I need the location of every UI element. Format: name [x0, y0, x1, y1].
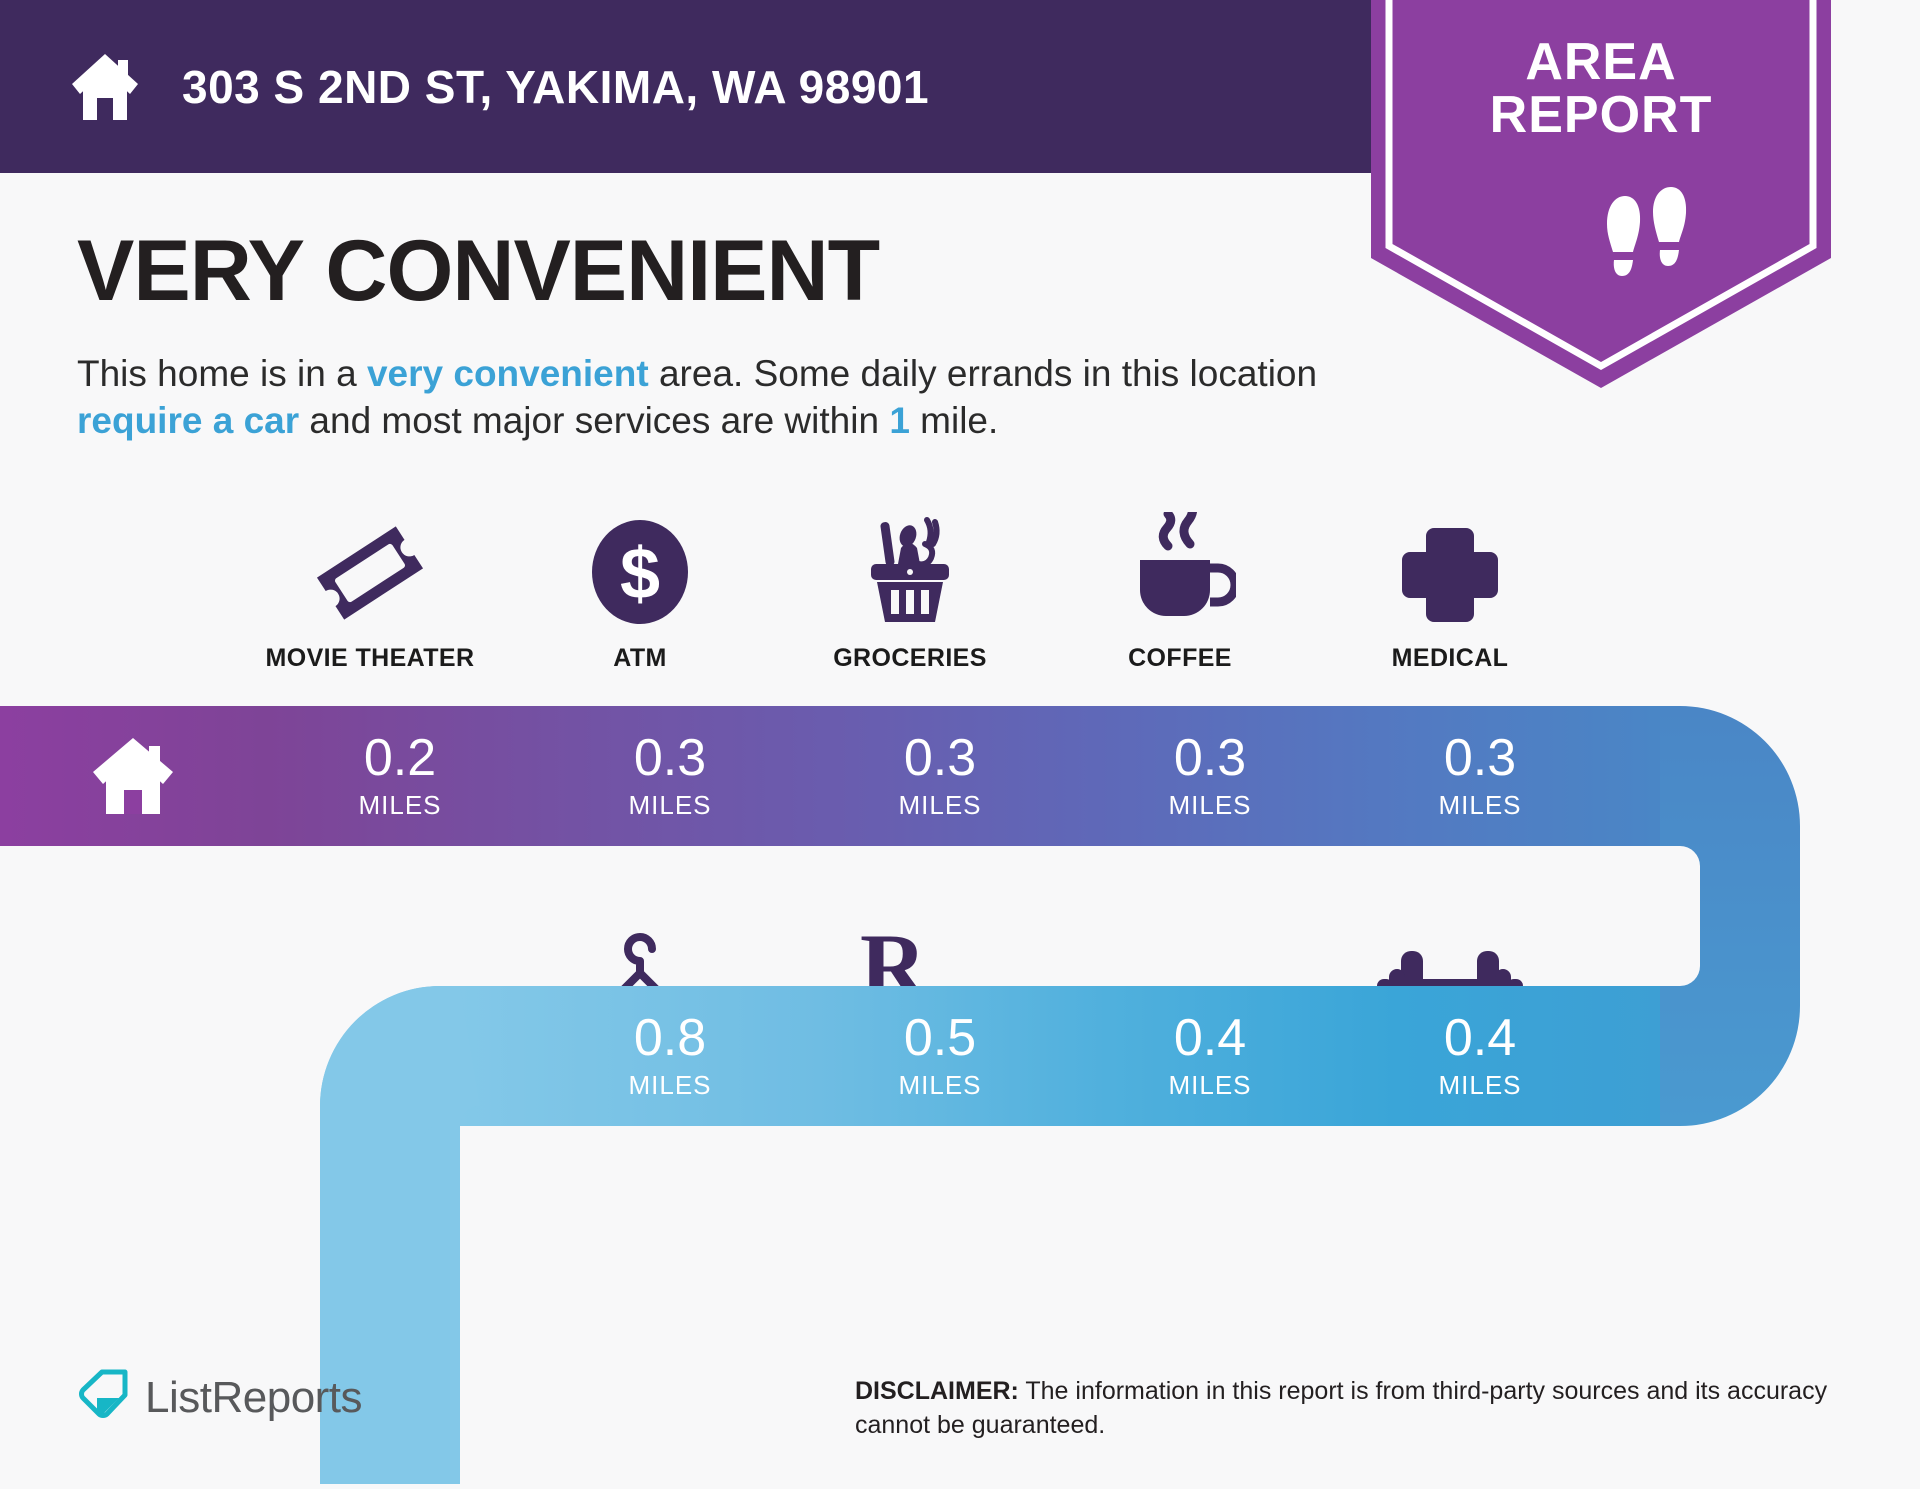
amenity-coffee: COFFEE: [1045, 510, 1315, 673]
distance-cell: 0.4MILES: [1075, 986, 1345, 1126]
distance-unit: MILES: [1438, 790, 1521, 821]
disclaimer-label: DISCLAIMER:: [855, 1377, 1019, 1405]
description-text: This home is in a: [77, 353, 367, 394]
description-highlight: require a car: [77, 400, 299, 441]
grocery-basket-icon: [855, 510, 965, 628]
distance-value: 0.4: [1174, 1012, 1246, 1064]
home-origin-cell: [0, 706, 265, 846]
distance-cell: 0.2MILES: [265, 706, 535, 846]
distance-value: 0.2: [364, 732, 436, 784]
coffee-cup-icon: [1124, 510, 1236, 628]
distance-cell: 0.3MILES: [535, 706, 805, 846]
distance-unit: MILES: [1168, 790, 1251, 821]
amenity-icon-row-1: MOVIE THEATER $ ATM: [235, 510, 1585, 673]
distance-value: 0.4: [1444, 1012, 1516, 1064]
distance-unit: MILES: [358, 790, 441, 821]
distance-value: 0.3: [634, 732, 706, 784]
summary-description: This home is in a very convenient area. …: [77, 350, 1357, 445]
amenity-movie-theater: MOVIE THEATER: [235, 510, 505, 673]
amenity-label: ATM: [613, 644, 667, 673]
area-report-badge: AREA REPORT: [1371, 0, 1831, 398]
description-highlight: very convenient: [367, 353, 649, 394]
badge-line-1: AREA: [1371, 36, 1831, 89]
distance-cell: 0.3MILES: [805, 706, 1075, 846]
logo-text: ListReports: [145, 1373, 362, 1423]
dollar-circle-icon: $: [585, 510, 695, 628]
distance-cell: 0.3MILES: [1345, 706, 1615, 846]
description-text: and most major services are within: [299, 400, 889, 441]
listreports-house-icon: [75, 1368, 129, 1427]
svg-text:$: $: [620, 534, 660, 614]
property-address: 303 S 2ND ST, YAKIMA, WA 98901: [182, 60, 929, 114]
distance-value: 0.3: [1174, 732, 1246, 784]
distance-unit: MILES: [1438, 1070, 1521, 1101]
distance-cell: 0.4MILES: [1345, 986, 1615, 1126]
description-text: area. Some daily errands in this locatio…: [649, 353, 1317, 394]
amenity-label: GROCERIES: [833, 644, 987, 673]
distance-cell: 0.5MILES: [805, 986, 1075, 1126]
description-highlight: 1: [889, 400, 910, 441]
ticket-icon: [315, 510, 425, 628]
badge-line-2: REPORT: [1371, 89, 1831, 142]
amenity-label: MEDICAL: [1392, 644, 1509, 673]
distance-value: 0.8: [634, 1012, 706, 1064]
distance-value: 0.3: [904, 732, 976, 784]
page-title: VERY CONVENIENT: [77, 222, 879, 321]
header-bar: 303 S 2ND ST, YAKIMA, WA 98901: [0, 0, 1371, 173]
amenity-groceries: GROCERIES: [775, 510, 1045, 673]
distance-value: 0.5: [904, 1012, 976, 1064]
distance-unit: MILES: [898, 1070, 981, 1101]
home-icon: [66, 48, 144, 126]
distance-unit: MILES: [1168, 1070, 1251, 1101]
disclaimer: DISCLAIMER: The information in this repo…: [855, 1375, 1840, 1443]
distance-unit: MILES: [628, 790, 711, 821]
distance-cell: 0.8MILES: [535, 986, 805, 1126]
distance-unit: MILES: [628, 1070, 711, 1101]
amenity-medical: MEDICAL: [1315, 510, 1585, 673]
description-text: mile.: [910, 400, 998, 441]
listreports-logo[interactable]: ListReports: [75, 1368, 362, 1427]
area-report-page: 303 S 2ND ST, YAKIMA, WA 98901 AREA REPO…: [0, 0, 1920, 1484]
amenity-label: COFFEE: [1128, 644, 1232, 673]
amenity-label: MOVIE THEATER: [266, 644, 475, 673]
distance-cell: 0.3MILES: [1075, 706, 1345, 846]
amenity-atm: $ ATM: [505, 510, 775, 673]
medical-cross-icon: [1396, 510, 1504, 628]
distance-value: 0.3: [1444, 732, 1516, 784]
badge-title: AREA REPORT: [1371, 36, 1831, 142]
distance-unit: MILES: [898, 790, 981, 821]
